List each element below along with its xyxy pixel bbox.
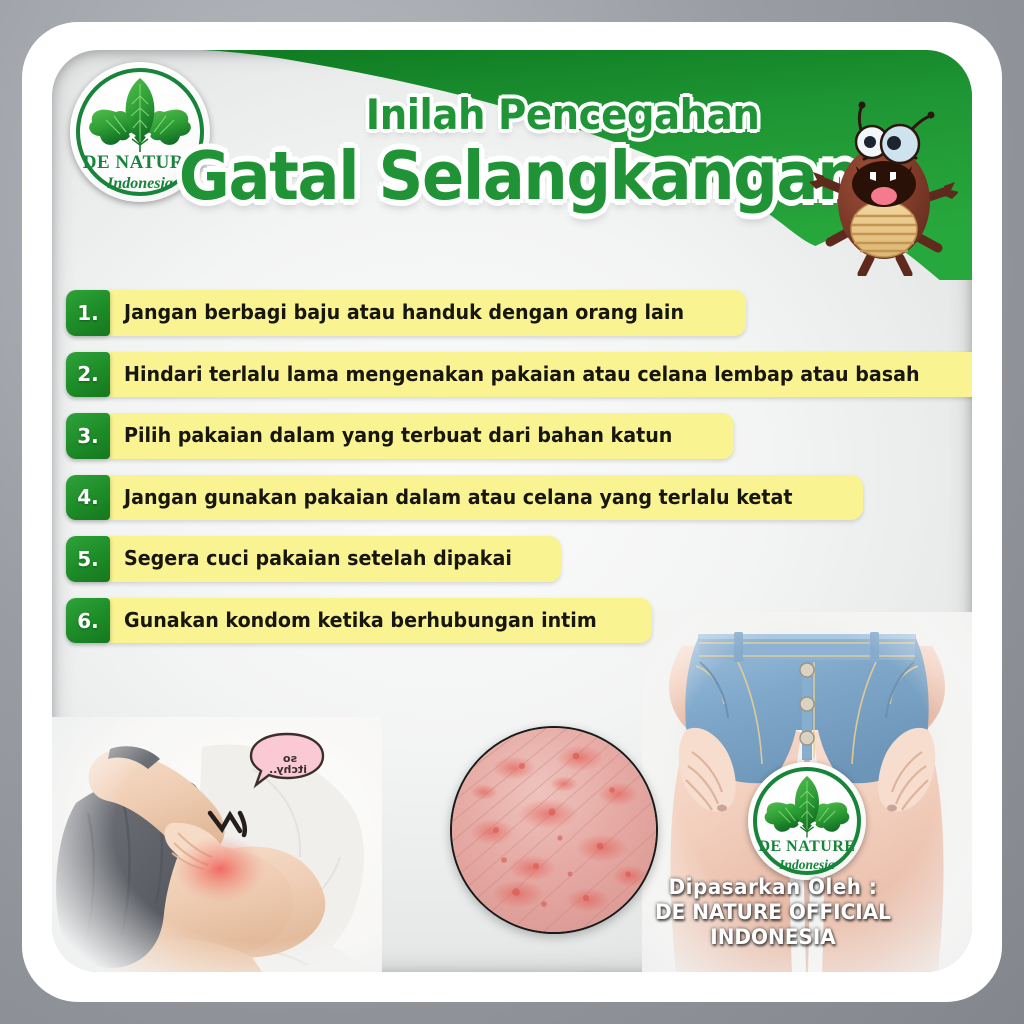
list-item: 2. Hindari terlalu lama mengenakan pakai…: [66, 352, 972, 398]
list-item-pill: Hindari terlalu lama mengenakan pakaian …: [110, 352, 972, 398]
list-item-text: Segera cuci pakaian setelah dipakai: [124, 547, 512, 570]
list-item-number: 3.: [66, 413, 110, 459]
list-item-pill: Segera cuci pakaian setelah dipakai: [110, 536, 561, 582]
list-item-pill: Jangan gunakan pakaian dalam atau celana…: [110, 475, 863, 521]
logo-sub-text: Indonesia: [779, 858, 835, 872]
prevention-tips-list: 1. Jangan berbagi baju atau handuk denga…: [66, 290, 972, 659]
logo-brand-text: DE NATURE: [83, 153, 197, 172]
woman-scratching-leg-photo: so itchy..: [52, 717, 382, 972]
oak-leaves-icon: [762, 774, 852, 838]
logo-brand-text: DE NATURE: [758, 839, 855, 855]
list-item-text: Pilih pakaian dalam yang terbuat dari ba…: [124, 424, 672, 447]
list-item-text: Hindari terlalu lama mengenakan pakaian …: [124, 363, 920, 386]
list-item: 1. Jangan berbagi baju atau handuk denga…: [66, 290, 746, 336]
list-item-number: 1.: [66, 290, 110, 336]
poster-root: DE NATURE Indonesia Inilah Pencegahan Ga…: [0, 0, 1024, 1024]
poster-frame: DE NATURE Indonesia Inilah Pencegahan Ga…: [22, 22, 1002, 1002]
skin-rash-closeup-photo: [450, 726, 658, 934]
list-item-pill: Pilih pakaian dalam yang terbuat dari ba…: [110, 413, 734, 459]
list-item: 3. Pilih pakaian dalam yang terbuat dari…: [66, 413, 734, 459]
list-item: 6. Gunakan kondom ketika berhubungan int…: [66, 598, 652, 644]
cartoon-bug-mascot-icon: [808, 96, 958, 276]
list-item-number: 5.: [66, 536, 110, 582]
list-item: 5. Segera cuci pakaian setelah dipakai: [66, 536, 561, 582]
poster-canvas: DE NATURE Indonesia Inilah Pencegahan Ga…: [52, 50, 972, 972]
list-item-pill: Jangan berbagi baju atau handuk dengan o…: [110, 290, 746, 336]
list-item-number: 4.: [66, 475, 110, 521]
oak-leaves-icon: [86, 76, 194, 152]
logo-sub-text: Indonesia: [107, 176, 173, 192]
list-item-text: Jangan gunakan pakaian dalam atau celana…: [124, 486, 792, 509]
list-item-text: Gunakan kondom ketika berhubungan intim: [124, 609, 597, 632]
brand-logo-bottom: DE NATURE Indonesia: [748, 762, 866, 880]
list-item-pill: Gunakan kondom ketika berhubungan intim: [110, 598, 652, 644]
list-item-number: 2.: [66, 352, 110, 398]
list-item-text: Jangan berbagi baju atau handuk dengan o…: [124, 301, 684, 324]
speech-bubble-itchy: so itchy..: [248, 731, 326, 789]
svg-text:itchy..: itchy..: [269, 763, 307, 776]
list-item-number: 6.: [66, 598, 110, 644]
list-item: 4. Jangan gunakan pakaian dalam atau cel…: [66, 475, 863, 521]
brand-logo-top: DE NATURE Indonesia: [70, 62, 210, 202]
